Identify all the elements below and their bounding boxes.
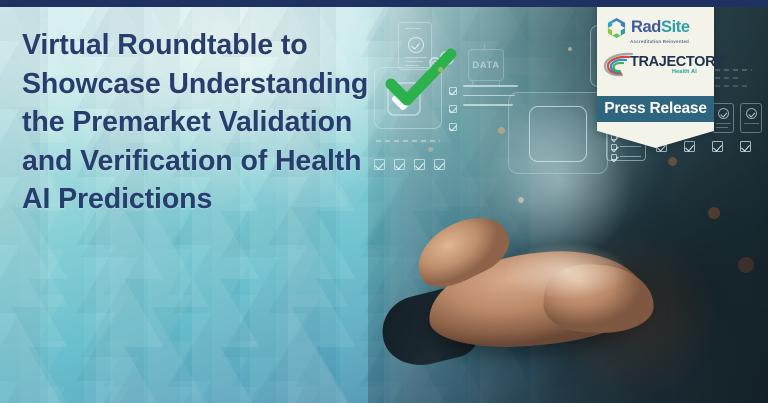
green-check-frame: [529, 106, 587, 162]
hand-icon: [356, 197, 686, 403]
mini-document-icon: [740, 103, 762, 133]
press-release-label-text: Press Release: [604, 101, 707, 117]
radsite-wordmark: RadSite: [631, 19, 690, 36]
trajectory-subtitle: Health AI: [672, 69, 697, 75]
press-release-label: Press Release: [597, 96, 714, 122]
headline-line-4: and Verification of Health: [22, 142, 442, 181]
mini-document-icon: [712, 103, 734, 133]
press-release-banner: AI DATA: [0, 0, 768, 403]
badge-logos: RadSite Accreditation Reinvented TRAJECT…: [597, 5, 714, 93]
page-title: Virtual Roundtable to Showcase Understan…: [22, 26, 442, 219]
radsite-logo: RadSite: [606, 15, 706, 40]
hand-glow: [476, 231, 656, 311]
top-accent-bar: [0, 0, 768, 7]
radsite-tagline: Accreditation Reinvented: [630, 39, 689, 44]
headline-line-2: Showcase Understanding: [22, 65, 442, 104]
headline-line-3: the Premarket Validation: [22, 103, 442, 142]
green-check-card-icon: [508, 92, 608, 174]
radsite-wordmark-part1: Rad: [631, 18, 661, 36]
trajectory-wordmark: TRAJECTORY®: [630, 55, 728, 70]
data-chip-icon: DATA: [468, 49, 504, 81]
press-release-badge: RadSite Accreditation Reinvented TRAJECT…: [597, 5, 714, 148]
headline-line-1: Virtual Roundtable to: [22, 26, 442, 65]
trajectory-logo: TRAJECTORY® Health AI: [602, 50, 712, 80]
trajectory-wordmark-text: TRAJECTORY: [630, 54, 724, 70]
mini-checkbox: [740, 141, 751, 152]
hexagon-ring-icon: [606, 17, 627, 39]
data-chip-label: DATA: [472, 60, 499, 71]
radsite-wordmark-part2: Site: [661, 18, 690, 36]
registered-mark: ®: [724, 56, 728, 62]
headline-line-5: AI Predictions: [22, 180, 442, 219]
